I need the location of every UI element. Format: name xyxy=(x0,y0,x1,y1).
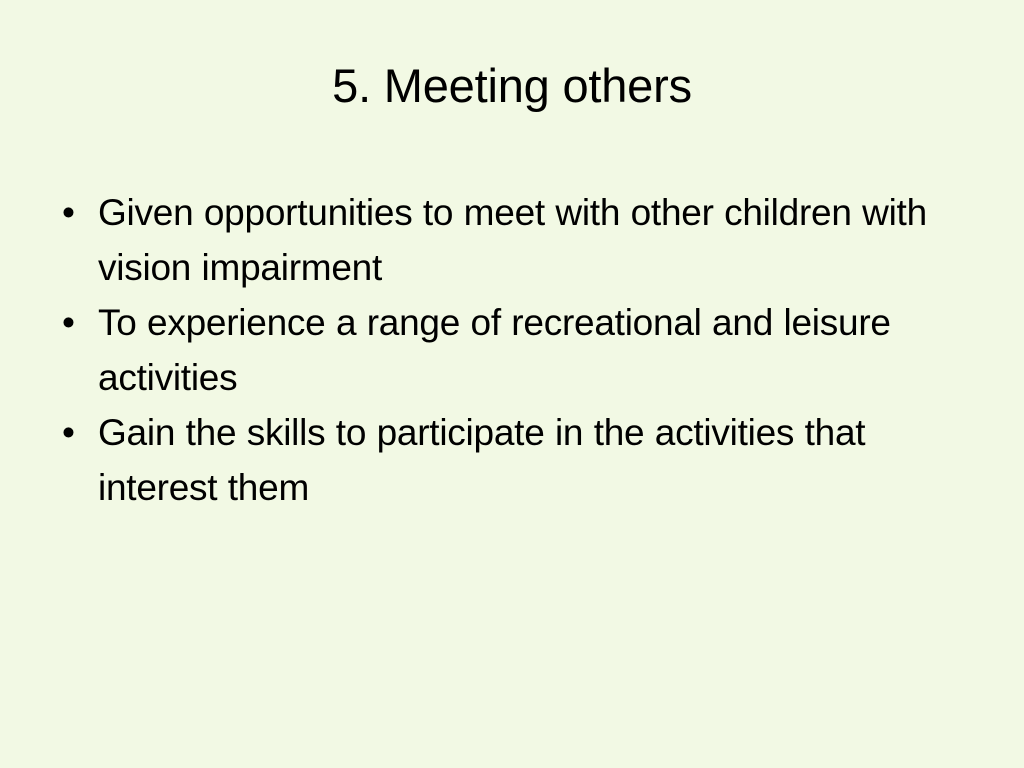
bullet-point-icon: • xyxy=(62,295,82,350)
bullet-list-item: • To experience a range of recreational … xyxy=(54,295,954,405)
bullet-list-item: • Given opportunities to meet with other… xyxy=(54,185,954,295)
bullet-item-text: Gain the skills to participate in the ac… xyxy=(98,405,954,515)
bullet-item-text: To experience a range of recreational an… xyxy=(98,295,954,405)
bullet-point-icon: • xyxy=(62,405,82,460)
bullet-point-icon: • xyxy=(62,185,82,240)
slide-title: 5. Meeting others xyxy=(0,60,1024,113)
presentation-slide: 5. Meeting others • Given opportunities … xyxy=(0,0,1024,768)
slide-body-content: • Given opportunities to meet with other… xyxy=(54,185,954,515)
bullet-list-item: • Gain the skills to participate in the … xyxy=(54,405,954,515)
bullet-item-text: Given opportunities to meet with other c… xyxy=(98,185,954,295)
